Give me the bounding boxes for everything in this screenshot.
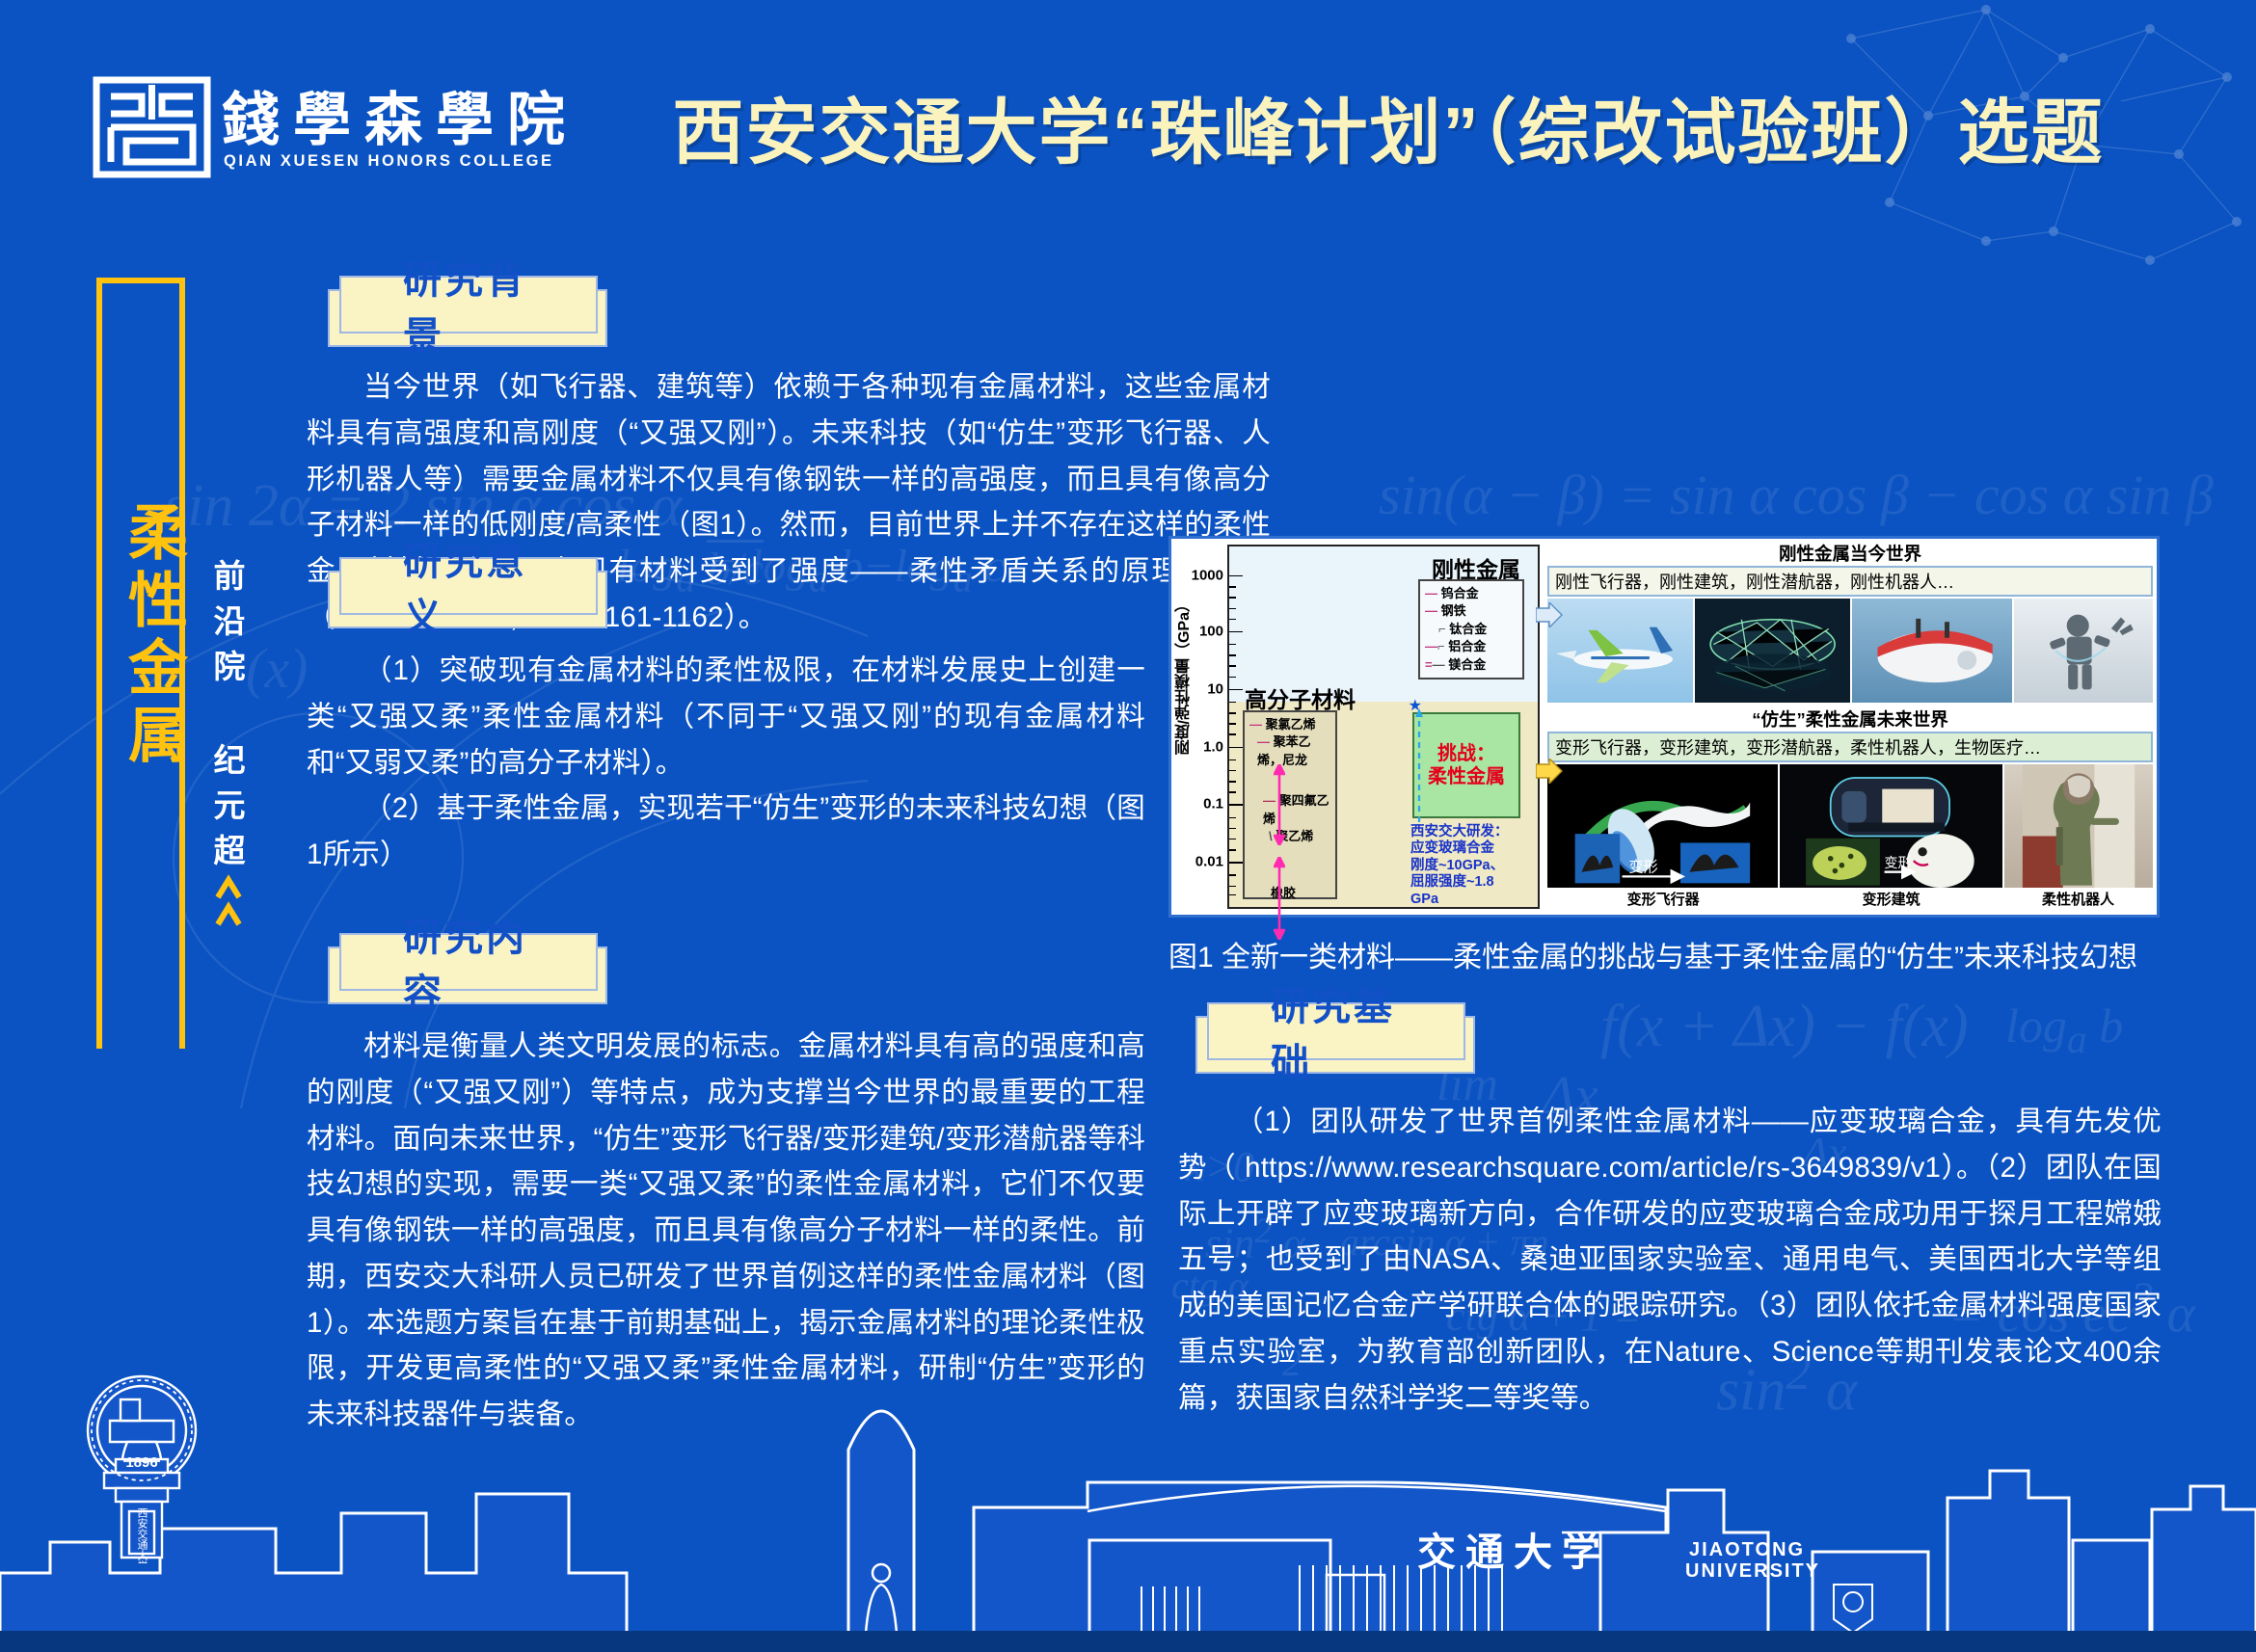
legend-entry: =— 镁合金 [1425,656,1517,674]
foundation-paragraph: （1）团队研发了世界首例柔性金属材料——应变玻璃合金，具有先发优势（ https… [1178,1099,2162,1421]
y-tick-1000: 1000 [1192,567,1229,583]
section-title-significance: 研究意义 [403,530,563,642]
double-chevron-up-icon [214,872,243,930]
y-tick-0.01: 0.01 [1195,854,1229,870]
section-header-plate: 研究内容 [339,933,598,991]
chart-region-label-polymers: 高分子材料 [1245,681,1356,714]
chart-annotation-xjtu: 西安交大研发： 应变玻璃合金 刚度~10GPa、 屈服强度~1.8 GPa [1410,824,1526,908]
annotation-line: 屈服强度~1.8 [1410,874,1526,891]
chart-y-axis-label: 刚度/弹性模量（GPa） [1173,597,1198,755]
legend-entry: ⌐ 钛合金 [1425,621,1517,638]
y-tick-100: 100 [1199,623,1229,639]
campus-skyline-decoration: 交通大学 JIAOTONG UNIVERSITY [0,1392,2256,1652]
morphing-aircraft-photo: 变形 [1547,764,1778,888]
legend-entry: — 聚四氟乙烯 [1249,792,1330,828]
annotation-line: GPa [1410,892,1526,908]
section-header-foundation: 研究基础 [1186,1002,1465,1062]
section-header-plate: 研究背景 [339,276,598,333]
section-header-plate: 研究意义 [339,557,598,615]
foundation-body: （1）团队研发了世界首例柔性金属材料——应变玻璃合金，具有先发优势（ https… [1178,1099,2162,1421]
y-tick-10: 10 [1207,680,1229,697]
y-tick-1: 1.0 [1203,738,1229,755]
content-paragraph: 材料是衡量人类文明发展的标志。金属材料具有高的强度和高的刚度（“又强又刚”）等特… [307,1024,1145,1438]
chart-highlight-challenge: 挑战： 柔性金属 [1412,712,1520,818]
section-header-plate: 研究基础 [1207,1002,1465,1060]
seal-year: 1896 [125,1454,157,1471]
range-arrow-icon [1274,764,1285,845]
rigid-aircraft-photo [1547,599,1693,703]
section-title-foundation: 研究基础 [1271,975,1431,1087]
challenge-line-2: 柔性金属 [1428,765,1505,788]
panel-title-flexible: “仿生”柔性金属未来世界 [1547,706,2153,732]
gate-english-line-2: UNIVERSITY [1685,1560,1820,1582]
legend-entry: \ 聚乙烯 [1249,828,1330,845]
poster-root: sin 2α = 2 sin α cos α loga b/c = loga b… [0,0,2256,1652]
section-header-content: 研究内容 [318,933,598,993]
college-name-english: QIAN XUESEN HONORS COLLEGE [224,152,554,171]
legend-entry: — 聚氯乙烯 [1249,716,1330,733]
panel-strip-flexible: 变形飞行器，变形建筑，变形潜航器，柔性机器人，生物医疗… [1547,732,2153,762]
section-header-significance: 研究意义 [318,557,598,617]
legend-entry: — 钢铁 [1425,602,1517,620]
college-name: 錢學森學院 [222,73,578,157]
chart-panel: 刚度/弹性模量（GPa） 1000 [1171,539,1544,915]
panel-captions-flexible: 变形飞行器 变形建筑 柔性机器人 [1547,889,2153,909]
panel-title-rigid: 刚性金属当今世界 [1547,541,2153,566]
annotation-line: 应变玻璃合金 [1410,840,1526,857]
challenge-line-1: 挑战： [1428,742,1505,765]
caption-morphing-building: 变形建筑 [1779,889,2003,909]
legend-entry: — 聚苯乙烯，尼龙 [1249,733,1330,769]
vertical-topic-title: 柔性金属 [114,501,185,771]
panel-image-row-flexible: 变形 变形 [1547,764,2153,888]
annotation-line: 刚度~10GPa、 [1410,858,1526,874]
arrow-right-icon [1536,759,1563,784]
dashed-connector-icon [1414,708,1424,826]
figure-right-panels: 刚性金属当今世界 刚性飞行器，刚性建筑，刚性潜航器，刚性机器人… [1544,539,2157,915]
morphing-building-photo: 变形 [1780,764,2002,888]
panel-image-row-rigid [1547,599,2153,703]
chart-legend-metals: — 钨合金 — 钢铁 ⌐ 钛合金 —⌐ 铝合金 =— 镁合金 [1418,579,1524,679]
caption-morphing-aircraft: 变形飞行器 [1547,889,1779,909]
rigid-robot-photo [2014,599,2153,703]
figure-1: 刚度/弹性模量（GPa） 1000 [1168,536,2160,918]
chart-legend-polymers: — 聚氯乙烯 — 聚苯乙烯，尼龙 — 聚四氟乙烯 \ 聚乙烯 橡胶 [1243,710,1337,899]
section-header-background: 研究背景 [318,276,598,335]
range-arrow-icon [1274,857,1285,940]
chart-plot-area: 1000 100 10 1.0 0.1 0.01 刚性金属 高分子材料 — 钨合… [1227,545,1540,909]
inner-label-morph: 变形 [1628,860,1657,876]
legend-entry: — 钨合金 [1425,585,1517,602]
figure-caption: 图1 全新一类材料——柔性金属的挑战与基于柔性金属的“仿生”未来科技幻想 [1168,933,2162,975]
section-title-content: 研究内容 [403,906,563,1018]
section-title-background: 研究背景 [403,249,563,360]
rigid-submersible-photo [1852,599,2012,703]
legend-entry: 橡胶 [1249,885,1330,902]
seal-text: 西安交通大学 [136,1507,148,1563]
vertical-author: 前沿院 纪元超 [204,559,249,879]
significance-paragraph-1: （1）突破现有金属材料的柔性极限，在材料发展史上创建一类“又强又柔”柔性金属材料… [307,648,1145,786]
gate-english-line-1: JIAOTONG [1689,1539,1805,1560]
arrow-right-icon [1536,602,1563,627]
panel-strip-rigid: 刚性飞行器，刚性建筑，刚性潜航器，刚性机器人… [1547,566,2153,597]
gate-chinese-text: 交通大学 [1417,1531,1610,1574]
significance-paragraph-2: （2）基于柔性金属，实现若干“仿生”变形的未来科技幻想（图1所示） [307,786,1145,878]
footer-bar [0,1631,2256,1652]
caption-soft-robot: 柔性机器人 [2003,889,2153,909]
legend-entry: —⌐ 铝合金 [1425,638,1517,655]
college-logo-icon [92,75,212,179]
rigid-building-photo [1695,599,1850,703]
soft-robot-photo [2004,764,2153,888]
y-tick-0.1: 0.1 [1203,796,1229,813]
page-title: 西安交通大学“珠峰计划”（综改试验班）选题 [578,75,2198,178]
significance-body: （1）突破现有金属材料的柔性极限，在材料发展史上创建一类“又强又柔”柔性金属材料… [307,648,1145,878]
annotation-line: 西安交大研发： [1410,824,1526,840]
inner-label-morph: 变形 [1884,855,1911,870]
content-body: 材料是衡量人类文明发展的标志。金属材料具有高的强度和高的刚度（“又强又刚”）等特… [307,1024,1145,1438]
university-seal-monument: 1896 西安交通大学 [60,1371,224,1563]
